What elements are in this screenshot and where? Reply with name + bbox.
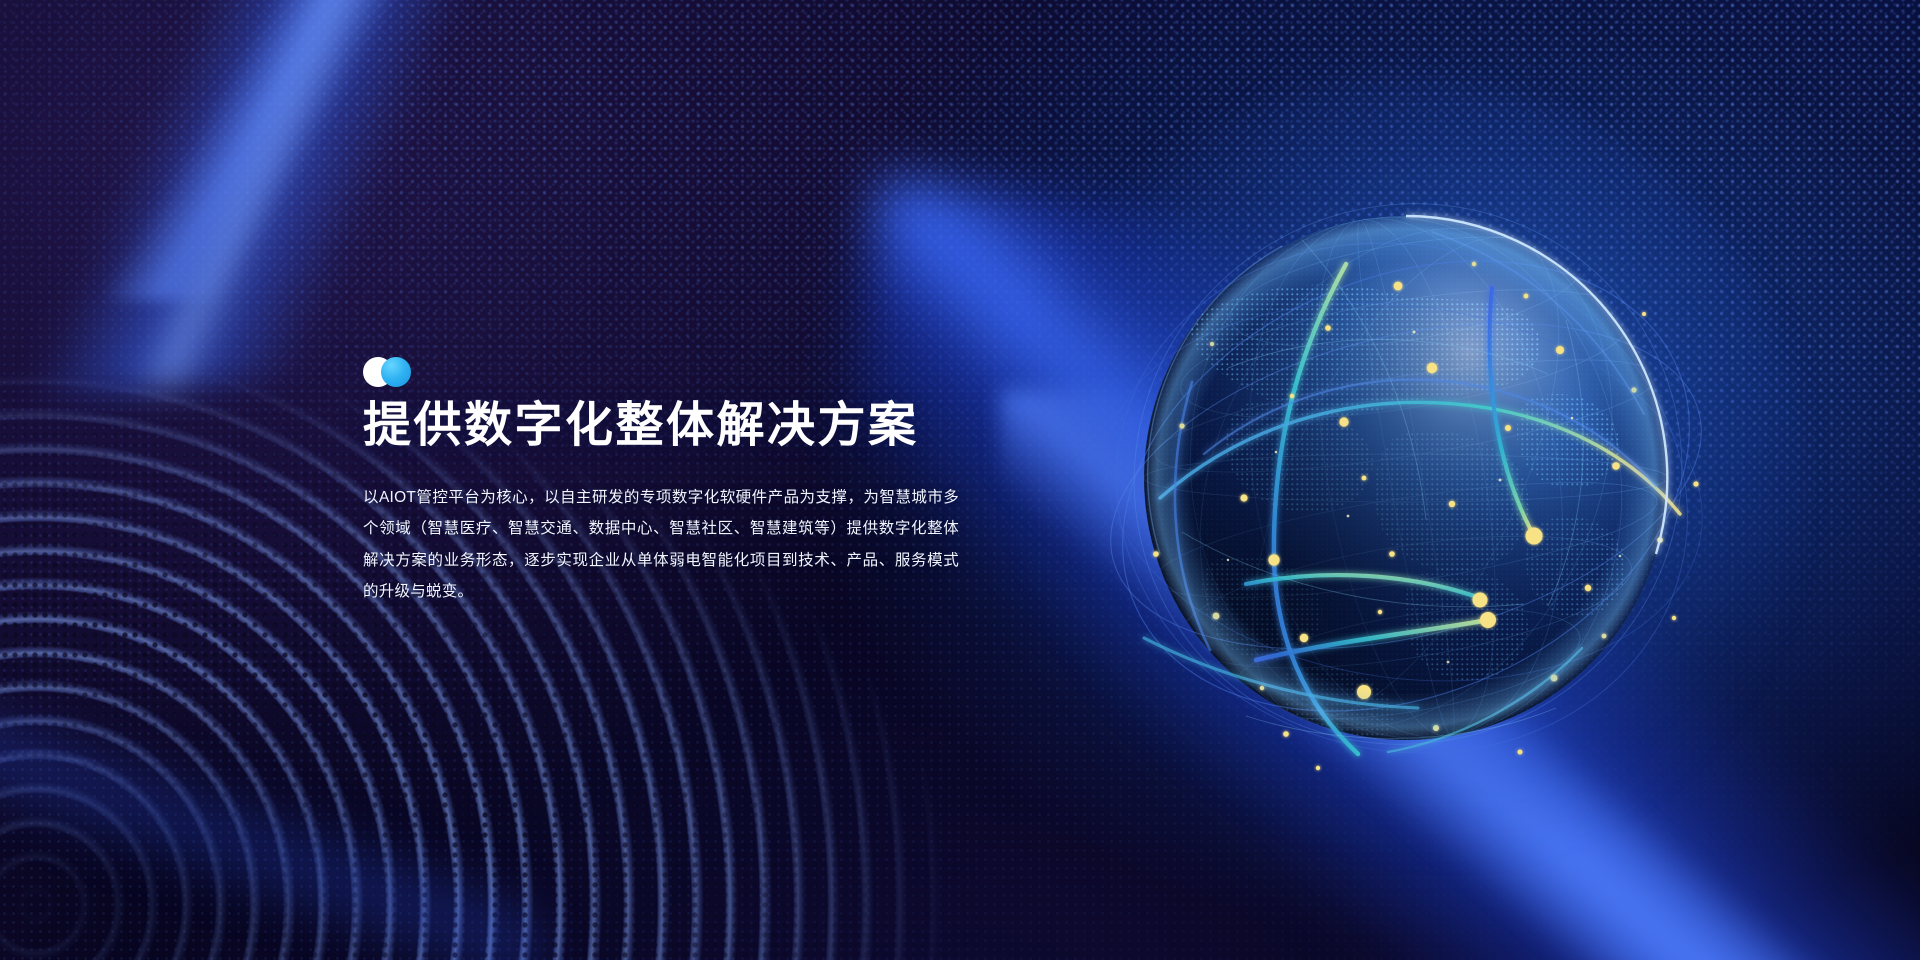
hero-banner: 提供数字化整体解决方案 以AIOT管控平台为核心，以自主研发的专项数字化软硬件产…: [0, 0, 1920, 960]
dot-blue-icon: [381, 357, 411, 387]
digital-globe: [1096, 168, 1716, 788]
page-title: 提供数字化整体解决方案: [363, 401, 959, 452]
globe-rim-glow: [1144, 216, 1668, 740]
hero-content: 提供数字化整体解决方案 以AIOT管控平台为核心，以自主研发的专项数字化软硬件产…: [363, 357, 959, 608]
two-dot-mark-icon: [363, 357, 421, 387]
globe-svg: [1096, 168, 1716, 788]
hero-description: 以AIOT管控平台为核心，以自主研发的专项数字化软硬件产品为支撑，为智慧城市多个…: [363, 482, 959, 608]
